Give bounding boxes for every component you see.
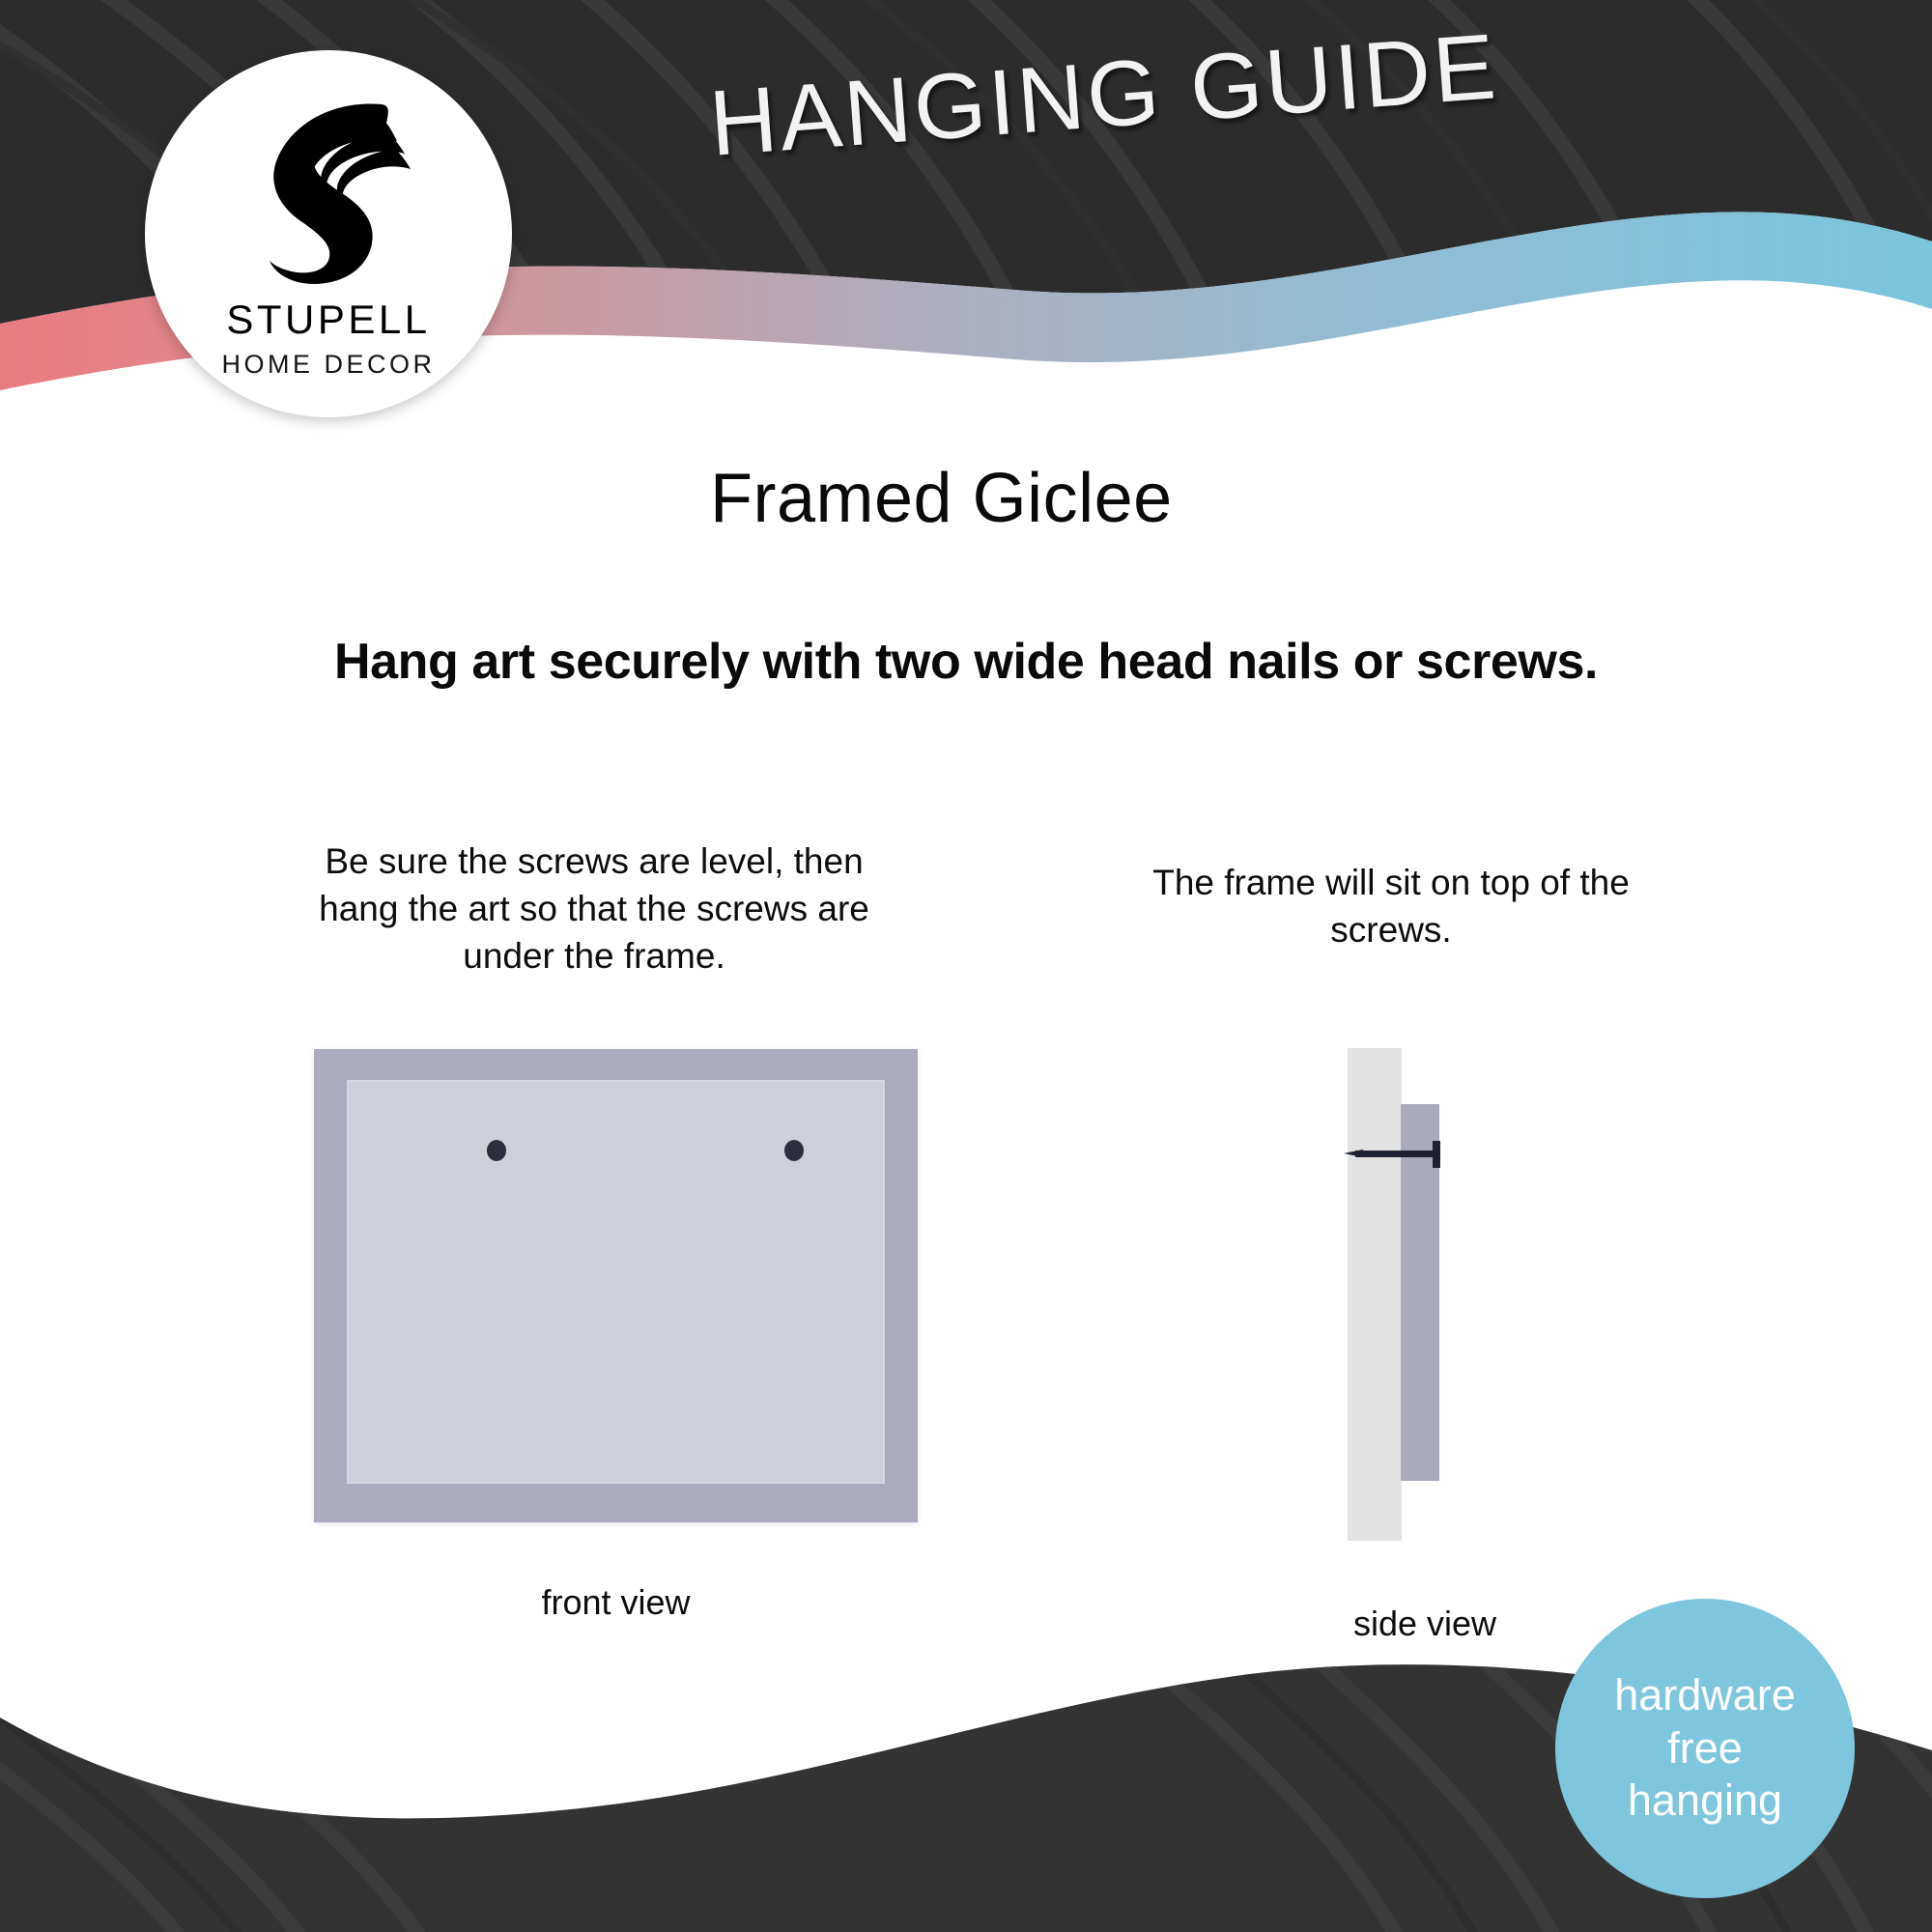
lead-instruction: Hang art securely with two wide head nai… (0, 633, 1932, 691)
nail-head-icon (1433, 1141, 1440, 1168)
brand-name: STUPELL (145, 299, 512, 340)
screw-dot-left-icon (487, 1140, 506, 1161)
side-view-caption: The frame will sit on top of the screws. (1140, 860, 1642, 954)
frame-inner-art (347, 1080, 885, 1484)
side-view-label: side view (1275, 1604, 1575, 1644)
brand-logo-badge: STUPELL HOME DECOR (145, 50, 512, 417)
wall-surface (1348, 1048, 1402, 1541)
front-view-caption: Be sure the screws are level, then hang … (285, 838, 903, 980)
product-type-heading: Framed Giclee (710, 459, 1173, 538)
stupell-swoosh-icon (237, 95, 420, 288)
badge-line-1: hardware (1614, 1669, 1796, 1722)
front-view-diagram (314, 1049, 918, 1522)
badge-line-2: free (1667, 1722, 1743, 1776)
hanging-guide-page: STUPELL HOME DECOR HANGING GUIDE Framed … (0, 0, 1932, 1932)
hardware-free-badge: hardware free hanging (1555, 1599, 1855, 1898)
front-view-label: front view (314, 1582, 918, 1623)
brand-tagline: HOME DECOR (145, 352, 512, 378)
side-view-diagram (1348, 1048, 1502, 1541)
nail-shaft-icon (1355, 1151, 1438, 1157)
screw-dot-right-icon (784, 1140, 804, 1161)
badge-line-3: hanging (1628, 1775, 1782, 1828)
